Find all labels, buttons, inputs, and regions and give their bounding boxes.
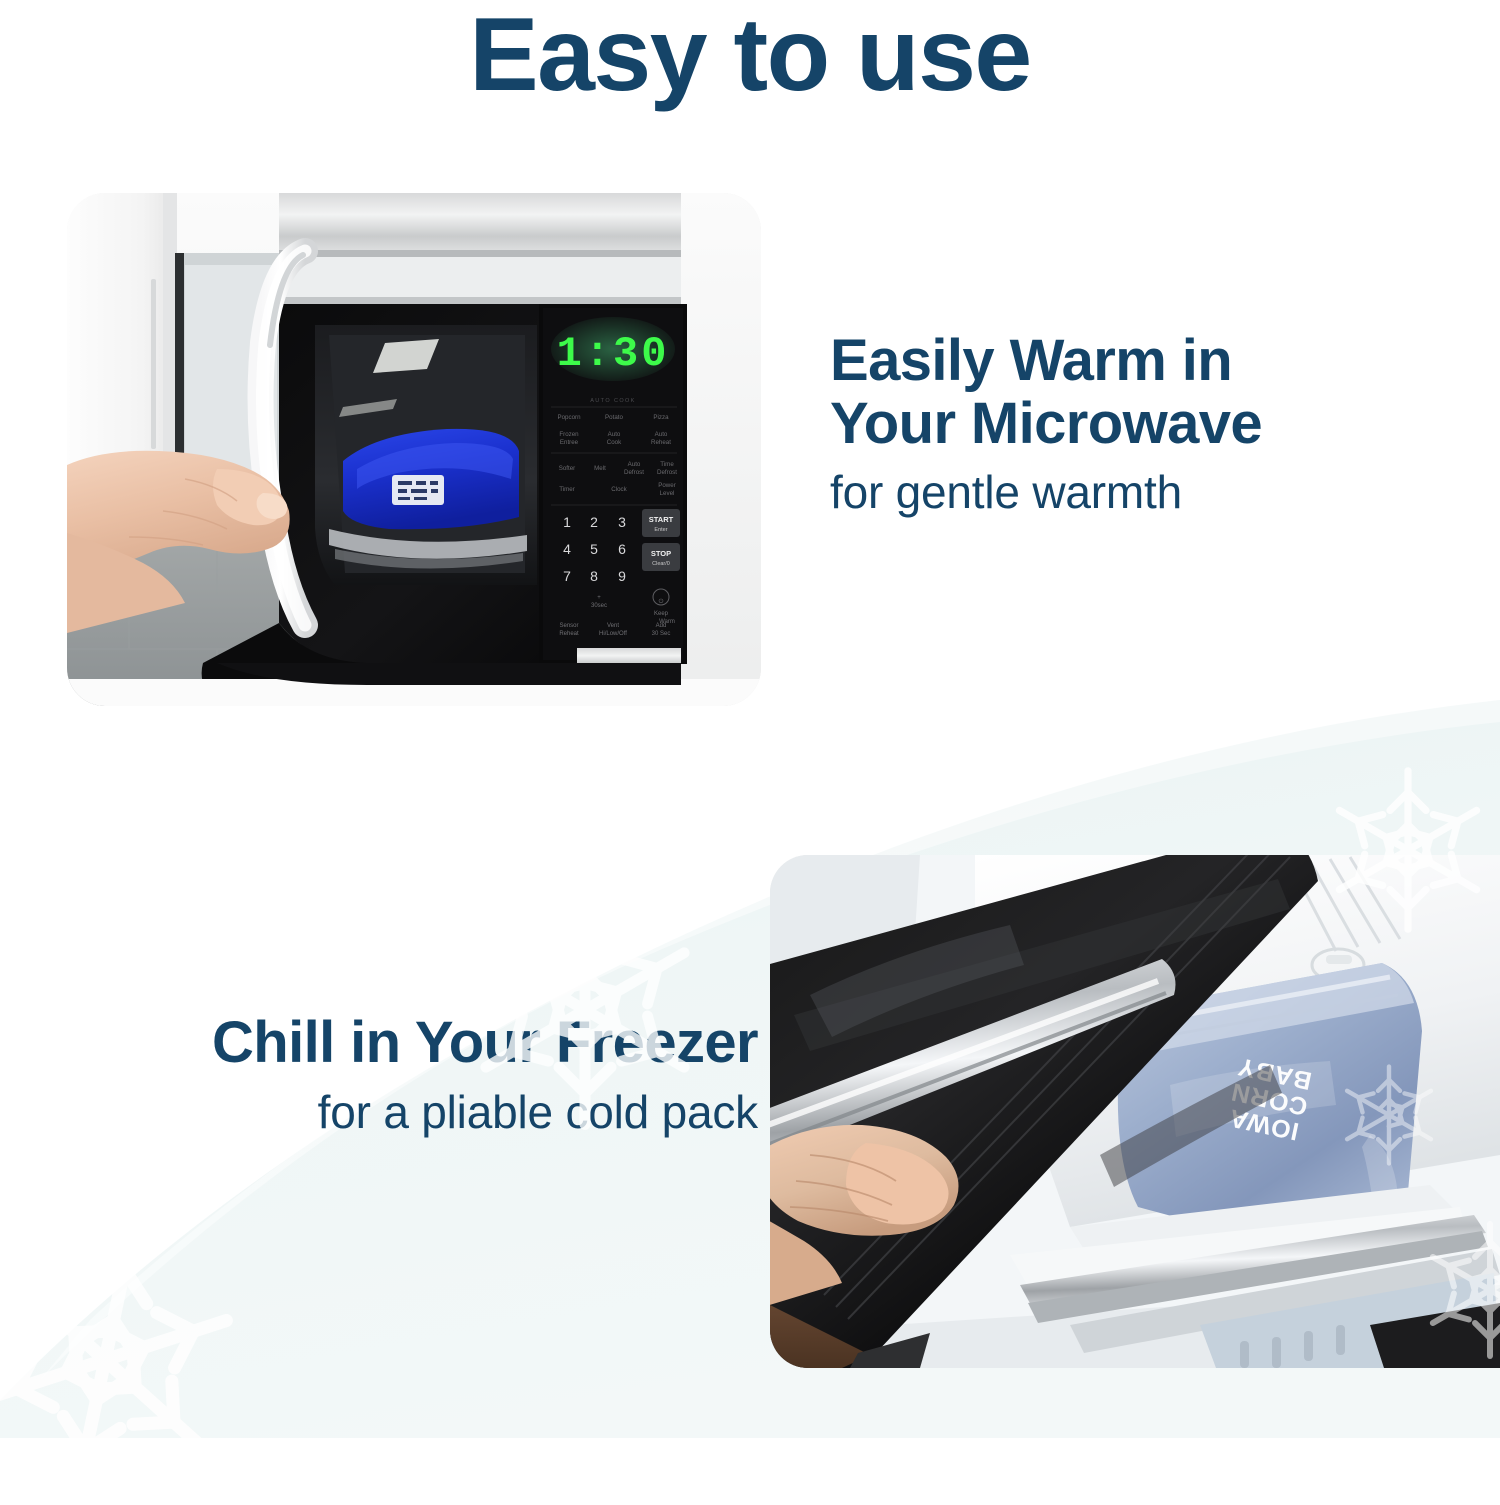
page-title: Easy to use bbox=[0, 0, 1500, 117]
svg-text:Popcorn: Popcorn bbox=[557, 414, 581, 421]
svg-text:30sec: 30sec bbox=[591, 603, 607, 609]
svg-text:Reheat: Reheat bbox=[559, 631, 579, 637]
svg-text:Entree: Entree bbox=[560, 439, 579, 446]
svg-text:Sensor: Sensor bbox=[559, 623, 578, 629]
svg-text:STOP: STOP bbox=[651, 549, 671, 558]
svg-text:Clear/0: Clear/0 bbox=[652, 561, 670, 567]
callout-microwave-subtitle: for gentle warmth bbox=[830, 465, 1450, 520]
svg-text:Defrost: Defrost bbox=[624, 469, 644, 476]
svg-text:6: 6 bbox=[618, 541, 626, 557]
svg-text:Softer: Softer bbox=[559, 465, 576, 472]
svg-text:START: START bbox=[649, 515, 674, 524]
svg-text:Hi/Low/Off: Hi/Low/Off bbox=[599, 631, 627, 637]
svg-text:Auto: Auto bbox=[628, 461, 641, 468]
photo-freezer: IOWA CORN BABY bbox=[770, 855, 1500, 1368]
svg-text:3: 3 bbox=[618, 514, 626, 530]
svg-text:Time: Time bbox=[660, 461, 674, 468]
svg-text:+: + bbox=[597, 595, 601, 601]
svg-text:7: 7 bbox=[563, 568, 571, 584]
svg-text:⏻: ⏻ bbox=[659, 598, 664, 605]
svg-text:Warm: Warm bbox=[659, 619, 675, 625]
callout-freezer-title: Chill in Your Freezer bbox=[58, 1012, 758, 1075]
microwave-display-value: 1:30 bbox=[557, 330, 670, 378]
svg-text:Power: Power bbox=[658, 482, 676, 489]
svg-text:8: 8 bbox=[590, 568, 598, 584]
svg-text:Enter: Enter bbox=[654, 527, 667, 533]
svg-text:30 Sec: 30 Sec bbox=[652, 631, 671, 637]
svg-text:Frozen: Frozen bbox=[559, 431, 579, 438]
svg-text:Level: Level bbox=[660, 490, 675, 497]
callout-freezer-subtitle: for a pliable cold pack bbox=[58, 1085, 758, 1140]
svg-text:Auto: Auto bbox=[608, 431, 621, 438]
svg-text:2: 2 bbox=[590, 514, 598, 530]
svg-text:Reheat: Reheat bbox=[651, 439, 671, 446]
photo-microwave: 1:30 AUTO COOK PopcornPotatoPizza Frozen… bbox=[67, 193, 761, 706]
callout-microwave: Easily Warm in Your Microwave for gentle… bbox=[830, 330, 1450, 520]
callout-microwave-title: Easily Warm in Your Microwave bbox=[830, 330, 1450, 455]
svg-text:Cook: Cook bbox=[607, 439, 622, 446]
callout-freezer: Chill in Your Freezer for a pliable cold… bbox=[58, 1012, 758, 1140]
svg-text:Melt: Melt bbox=[594, 465, 606, 472]
svg-text:5: 5 bbox=[590, 541, 598, 557]
svg-text:4: 4 bbox=[563, 541, 571, 557]
svg-text:Auto: Auto bbox=[655, 431, 668, 438]
svg-text:Vent: Vent bbox=[607, 623, 619, 629]
svg-text:Potato: Potato bbox=[605, 414, 623, 421]
svg-text:Clock: Clock bbox=[611, 486, 627, 493]
svg-text:Pizza: Pizza bbox=[653, 414, 669, 421]
svg-text:AUTO COOK: AUTO COOK bbox=[590, 398, 636, 404]
svg-text:Timer: Timer bbox=[559, 486, 575, 493]
svg-text:1: 1 bbox=[563, 514, 571, 530]
svg-text:9: 9 bbox=[618, 568, 626, 584]
svg-text:Keep: Keep bbox=[654, 611, 669, 617]
svg-text:Defrost: Defrost bbox=[657, 469, 677, 476]
